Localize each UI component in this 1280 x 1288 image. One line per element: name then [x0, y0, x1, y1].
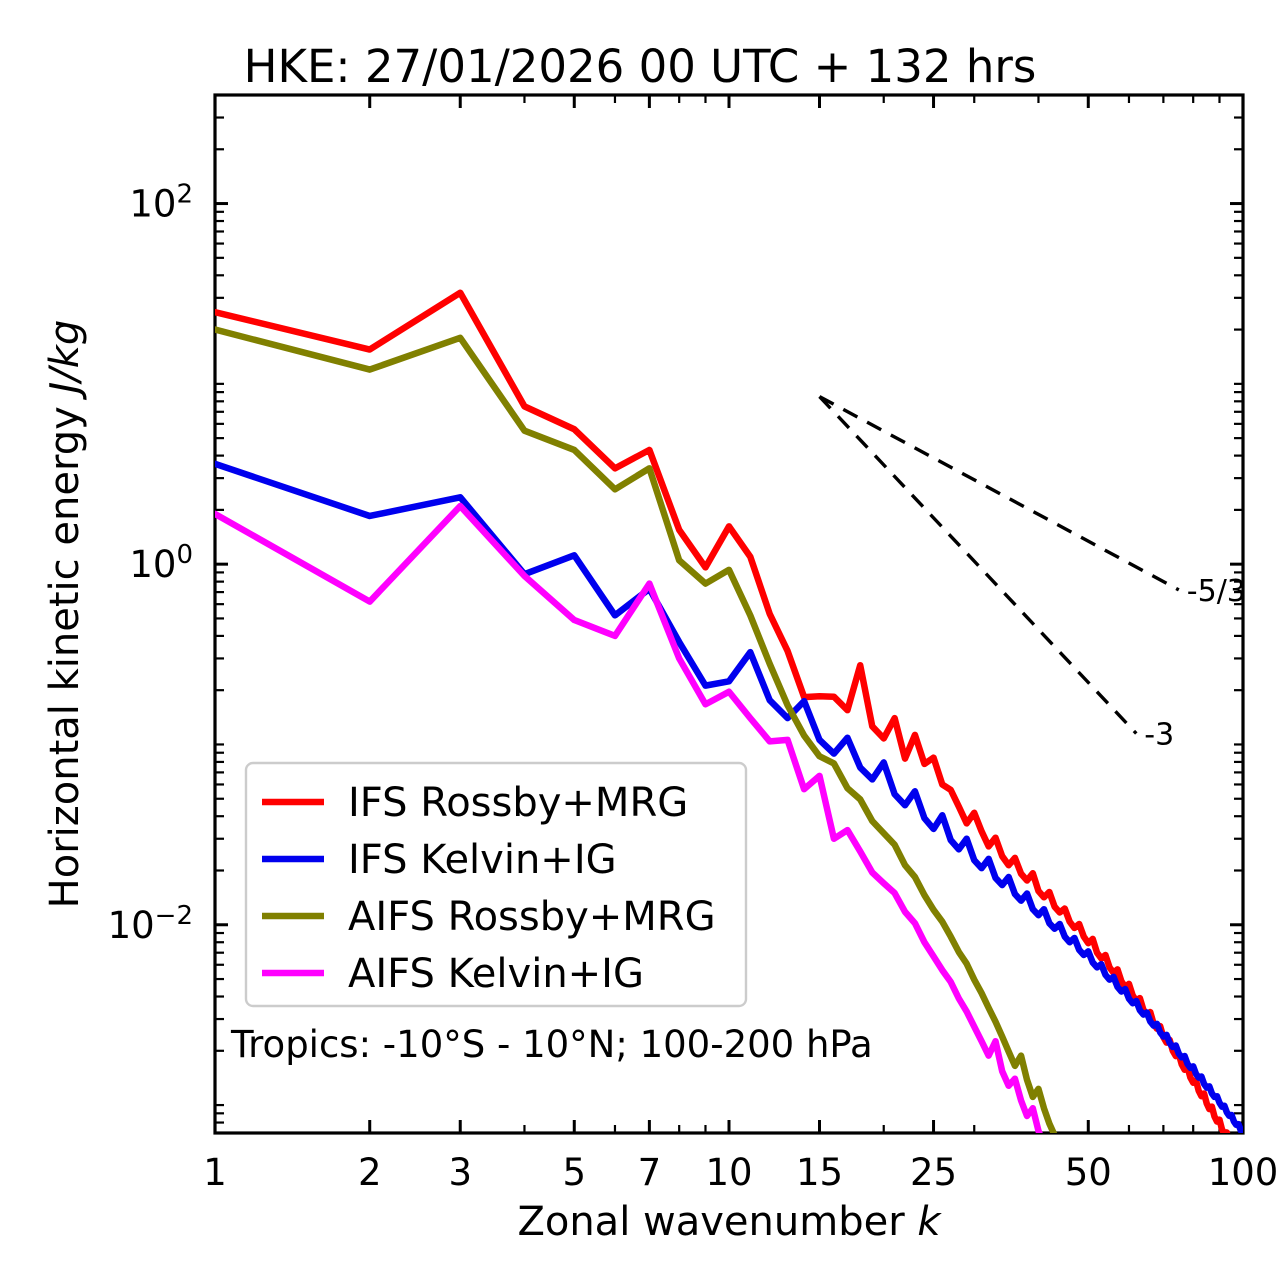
region-annotation: Tropics: -10°S - 10°N; 100-200 hPa [230, 1023, 873, 1066]
x-axis-title-italic: k [917, 1199, 942, 1245]
x-tick-label: 100 [1208, 1151, 1279, 1194]
x-tick-label: 50 [1065, 1151, 1112, 1194]
chart-title: HKE: 27/01/2026 00 UTC + 132 hrs [244, 40, 1037, 93]
slope-reference-label: -3 [1144, 718, 1174, 753]
x-axis-title: Zonal wavenumber k [517, 1199, 942, 1245]
x-axis-title-plain: Zonal wavenumber [517, 1199, 917, 1245]
y-axis-title-italic: J/kg [42, 320, 88, 401]
x-tick-label: 10 [705, 1151, 752, 1194]
x-tick-label: 1 [203, 1151, 227, 1194]
x-tick-label: 15 [796, 1151, 843, 1194]
figure-canvas: HKE: 27/01/2026 00 UTC + 132 hrs 1235710… [0, 0, 1280, 1288]
y-axis-title: Horizontal kinetic energy J/kg [42, 320, 88, 909]
y-tick-label: 10−2 [108, 901, 193, 947]
slope-reference-label: -5/3 [1187, 574, 1246, 609]
x-tick-label: 3 [448, 1151, 472, 1194]
legend-item-label[interactable]: IFS Kelvin+IG [348, 837, 617, 883]
y-tick-label: 102 [129, 180, 193, 226]
x-tick-label: 2 [358, 1151, 382, 1194]
x-tick-label: 25 [910, 1151, 957, 1194]
legend-item-label[interactable]: AIFS Rossby+MRG [348, 894, 716, 940]
chart-svg: HKE: 27/01/2026 00 UTC + 132 hrs 1235710… [0, 0, 1280, 1288]
legend[interactable]: IFS Rossby+MRGIFS Kelvin+IGAIFS Rossby+M… [246, 763, 746, 1006]
y-axis-title-plain: Horizontal kinetic energy [42, 394, 88, 909]
y-tick-label: 100 [129, 540, 193, 586]
legend-item-label[interactable]: AIFS Kelvin+IG [348, 951, 644, 997]
x-tick-label: 7 [638, 1151, 662, 1194]
x-tick-label: 5 [562, 1151, 586, 1194]
legend-item-label[interactable]: IFS Rossby+MRG [348, 780, 688, 826]
